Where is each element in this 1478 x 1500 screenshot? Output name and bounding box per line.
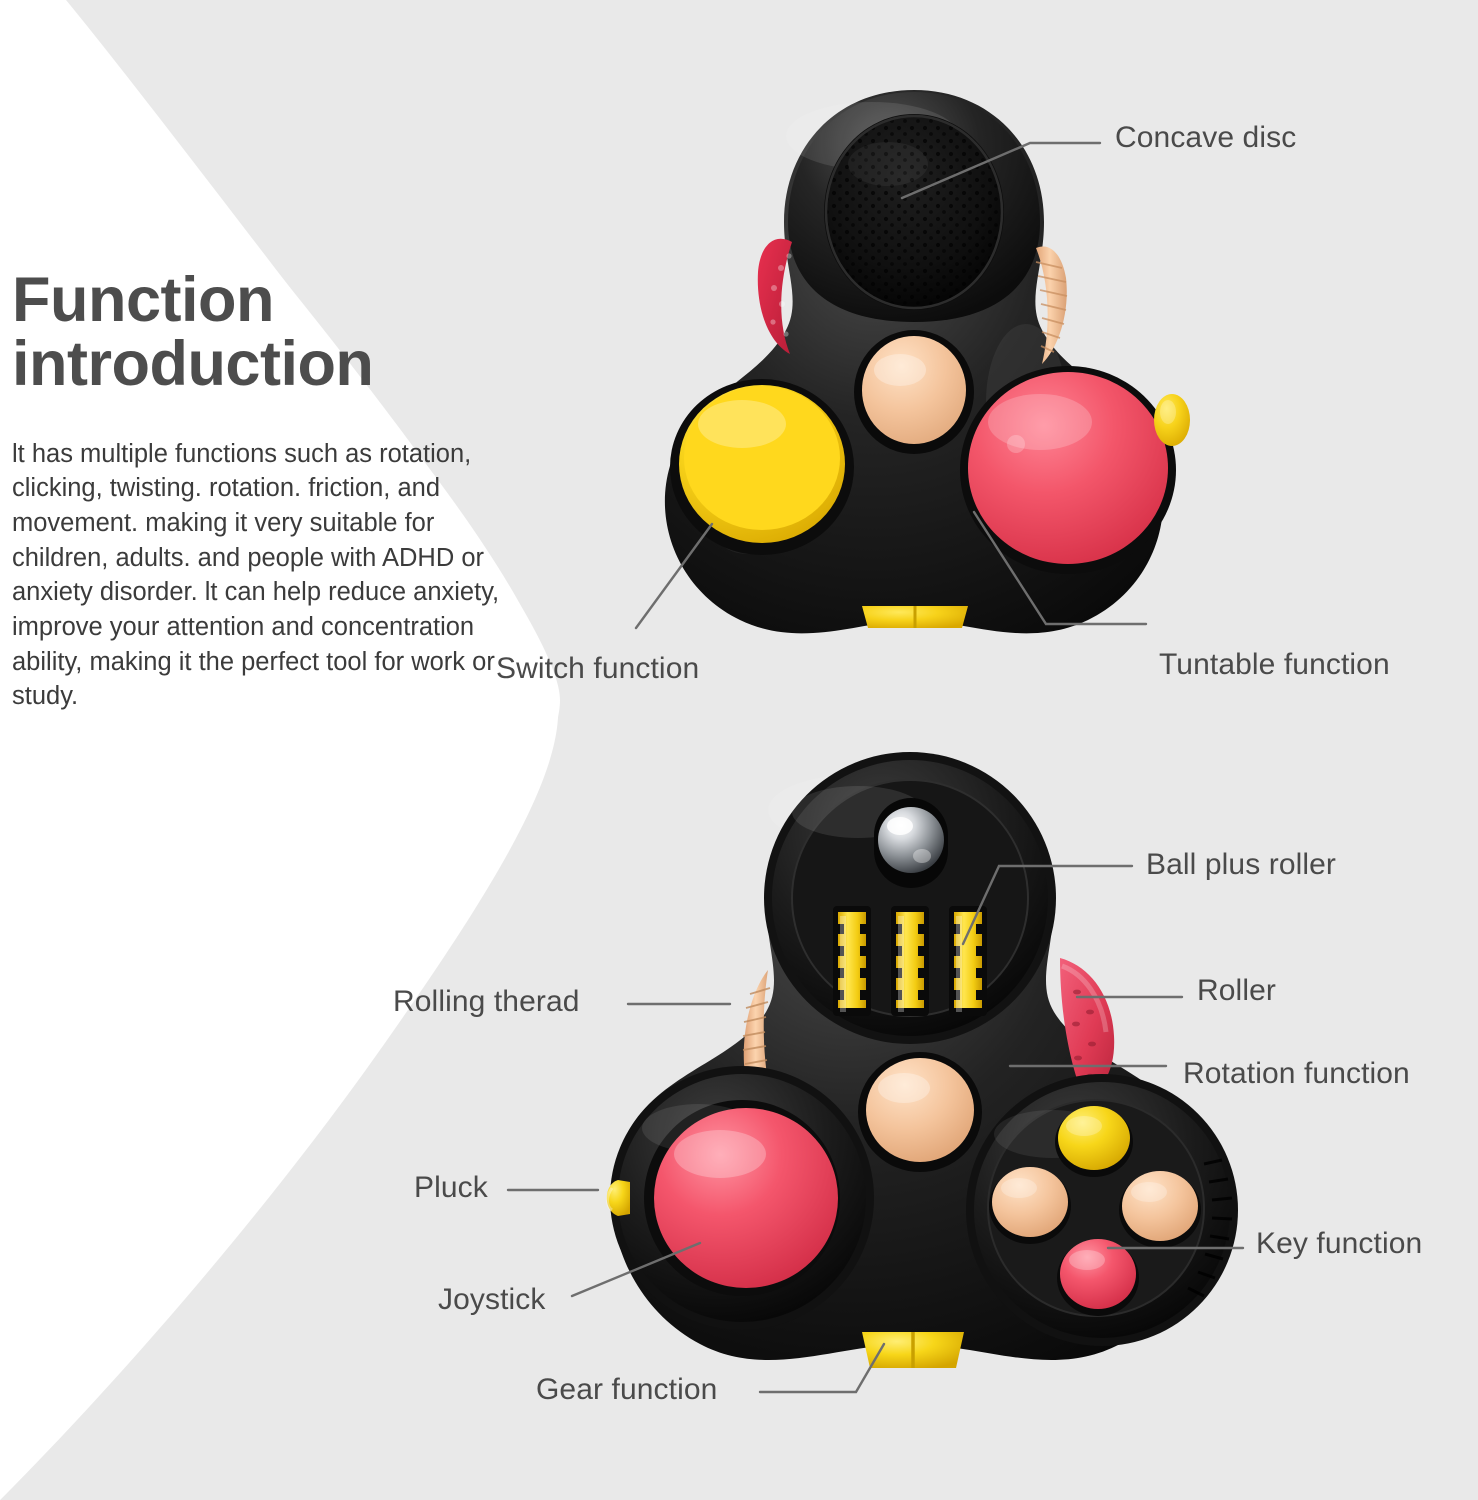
title-line-2: introduction bbox=[12, 332, 532, 396]
label-key-function: Key function bbox=[1256, 1227, 1422, 1261]
label-tuntable-function: Tuntable function bbox=[1159, 648, 1390, 682]
page-title: Function introduction bbox=[12, 268, 532, 397]
bottom-device-illustration bbox=[590, 740, 1270, 1430]
top-device-illustration bbox=[596, 72, 1236, 672]
infographic-canvas: Function introduction lt has multiple fu… bbox=[0, 0, 1478, 1500]
gear-tab-yellow[interactable] bbox=[862, 606, 968, 628]
label-switch-function: Switch function bbox=[496, 652, 699, 686]
label-joystick: Joystick bbox=[438, 1283, 546, 1317]
switch-button-yellow[interactable] bbox=[670, 379, 854, 555]
intro-paragraph: lt has multiple functions such as rotati… bbox=[12, 437, 522, 714]
joystick-red[interactable] bbox=[654, 1108, 838, 1288]
center-disc-peach[interactable] bbox=[854, 330, 974, 454]
turntable-disc-red[interactable] bbox=[960, 366, 1176, 574]
label-ball-plus-roller: Ball plus roller bbox=[1146, 848, 1336, 882]
steel-ball[interactable] bbox=[874, 798, 948, 888]
pluck-knob-yellow[interactable] bbox=[607, 1180, 630, 1216]
side-knob-yellow[interactable] bbox=[1154, 394, 1190, 446]
gear-tab-yellow[interactable] bbox=[862, 1332, 964, 1368]
rotation-disc-peach[interactable] bbox=[858, 1052, 982, 1172]
roller-gear-1[interactable] bbox=[833, 906, 871, 1016]
label-roller: Roller bbox=[1197, 974, 1276, 1008]
label-pluck: Pluck bbox=[414, 1171, 488, 1205]
title-line-1: Function bbox=[12, 268, 532, 332]
label-rotation-function: Rotation function bbox=[1183, 1057, 1410, 1091]
label-gear-function: Gear function bbox=[536, 1373, 717, 1407]
label-concave-disc: Concave disc bbox=[1115, 121, 1296, 155]
roller-gear-3[interactable] bbox=[949, 906, 987, 1016]
intro-text-column: Function introduction lt has multiple fu… bbox=[12, 268, 532, 714]
roller-gear-2[interactable] bbox=[891, 906, 929, 1016]
label-rolling-therad: Rolling therad bbox=[393, 985, 580, 1019]
